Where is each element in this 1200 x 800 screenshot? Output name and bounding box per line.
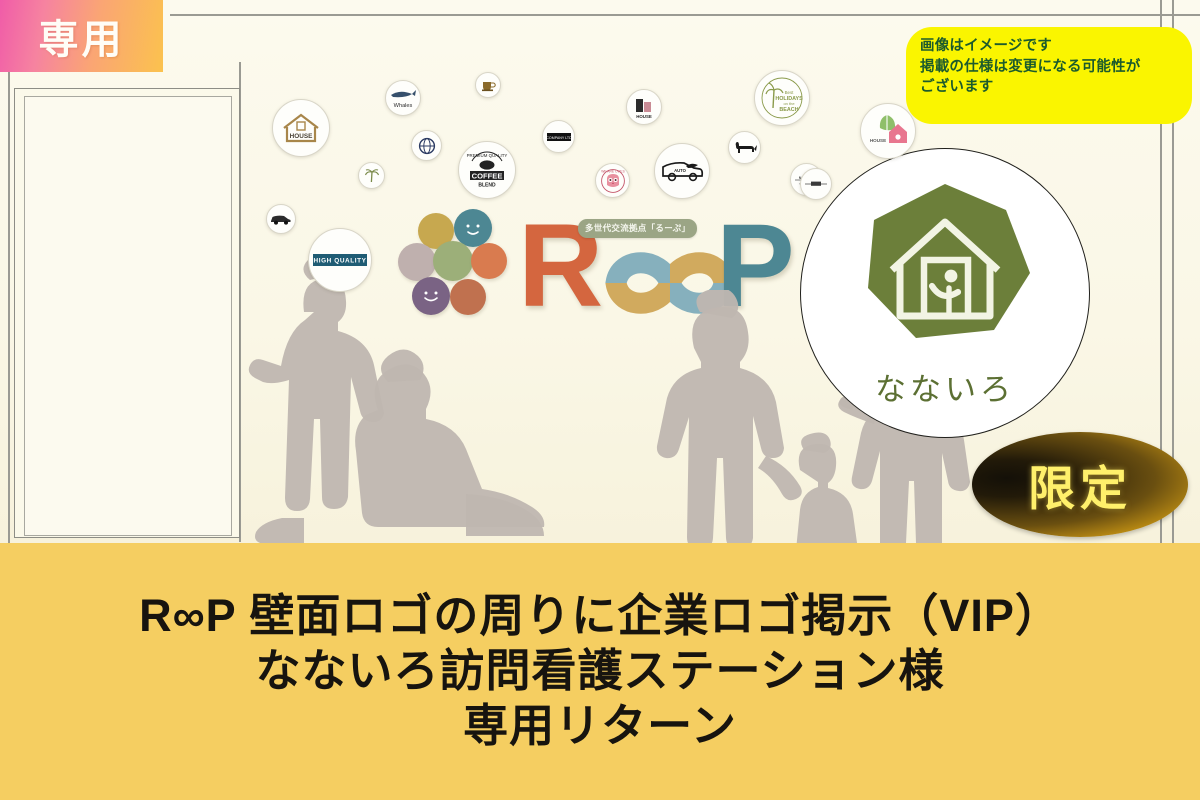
company-logo-badge-beach-holidays: Best HOLIDAYS on the BEACH [754, 70, 810, 126]
wall-door-panel-inner [24, 96, 232, 536]
nanairo-logo-name: なないろ [875, 364, 1015, 409]
nanairo-logo-circle: なないろ [800, 148, 1090, 438]
svg-text:AUTO: AUTO [674, 168, 687, 173]
owl-icon: WE ARE OWLS [599, 167, 627, 195]
beach-holidays-icon: Best HOLIDAYS on the BEACH [758, 74, 806, 122]
palm-tree-icon [363, 167, 381, 185]
silhouette-caregiver-and-wheelchair [238, 250, 658, 545]
caption-line-2: なないろ訪問看護ステーション様 [255, 644, 944, 699]
whale-icon: Whales [388, 85, 418, 111]
caption-line-3: 専用リターン [463, 699, 737, 754]
car-icon [269, 212, 293, 226]
company-logo-badge-coffee-blend: PREMIUM QUALITY COFFEE BLEND [458, 141, 516, 199]
exclusive-badge: 専用 [0, 0, 163, 72]
leaf-house-icon: HOUSE [865, 109, 911, 153]
building-icon: HOUSE [630, 93, 658, 121]
svg-text:COMPANY LTD: COMPANY LTD [546, 136, 572, 140]
svg-text:HIGH QUALITY: HIGH QUALITY [314, 258, 367, 265]
image-disclaimer-notice: 画像はイメージです 掲載の仕様は変更になる可能性が ございます [906, 27, 1192, 124]
svg-text:HOUSE: HOUSE [636, 114, 652, 119]
company-logo-badge-palm-tree [358, 162, 385, 189]
company-logo-badge-leaf-house: HOUSE [860, 103, 916, 159]
svg-text:Whales: Whales [394, 103, 413, 109]
company-logo-badge-building-house: HOUSE [626, 89, 662, 125]
svg-text:HOUSE: HOUSE [870, 138, 886, 143]
wall-edge-left [8, 60, 10, 545]
dark-bar-icon: COMPANY LTD [546, 130, 572, 144]
limited-badge-label: 限定 [1028, 450, 1132, 519]
company-logo-badge-car [266, 204, 296, 234]
company-logo-badge-high-quality: HIGH QUALITY [308, 228, 372, 292]
notice-line-1: 画像はイメージです [920, 36, 1178, 57]
globe-emblem-icon [416, 135, 438, 157]
company-logo-badge-house-outline: HOUSE [272, 99, 330, 157]
caption-band: R∞P 壁面ロゴの周りに企業ロゴ掲示（VIP） なないろ訪問看護ステーション様 … [0, 543, 1200, 800]
company-logo-badge-dachshund [728, 131, 761, 164]
high-quality-banner-icon: HIGH QUALITY [312, 250, 368, 270]
coffee-cup-icon [479, 76, 497, 94]
notice-line-3: ございます [920, 77, 1178, 98]
svg-text:COFFEE: COFFEE [472, 171, 503, 180]
svg-text:HOUSE: HOUSE [290, 133, 313, 140]
company-logo-badge-coffee-cup [475, 72, 501, 98]
dachshund-dog-icon [732, 139, 758, 157]
roop-tagline: 多世代交流拠点「るーぷ」 [578, 219, 697, 238]
svg-text:on the: on the [783, 101, 795, 106]
notice-line-2: 掲載の仕様は変更になる可能性が [920, 57, 1178, 78]
company-logo-badge-dark-bar: COMPANY LTD [542, 120, 575, 153]
van-icon: AUTO [658, 156, 706, 186]
caption-line-1: R∞P 壁面ロゴの周りに企業ロゴ掲示（VIP） [139, 589, 1061, 644]
nanairo-house-mark-icon [854, 178, 1036, 360]
coffee-blend-icon: PREMIUM QUALITY COFFEE BLEND [462, 145, 512, 195]
svg-text:PREMIUM QUALITY: PREMIUM QUALITY [467, 153, 508, 158]
svg-text:WE ARE OWLS: WE ARE OWLS [601, 169, 625, 173]
svg-text:BLEND: BLEND [478, 183, 496, 189]
exclusive-badge-label: 専用 [39, 7, 125, 65]
promotional-return-card: HOUSE Whales [0, 0, 1200, 800]
company-logo-badge-owl: WE ARE OWLS [595, 163, 630, 198]
svg-text:Best: Best [785, 90, 795, 95]
company-logo-badge-globe-small [411, 130, 442, 161]
wall-ceiling-line [170, 14, 1200, 16]
company-logo-badge-van: AUTO [654, 143, 710, 199]
small-mark-icon [804, 179, 828, 189]
company-logo-badge-small-mark [800, 168, 832, 200]
limited-badge: 限定 [972, 432, 1188, 537]
company-logo-badge-whales: Whales [385, 80, 421, 116]
svg-text:BEACH: BEACH [779, 107, 798, 113]
house-outline-icon: HOUSE [280, 110, 322, 146]
